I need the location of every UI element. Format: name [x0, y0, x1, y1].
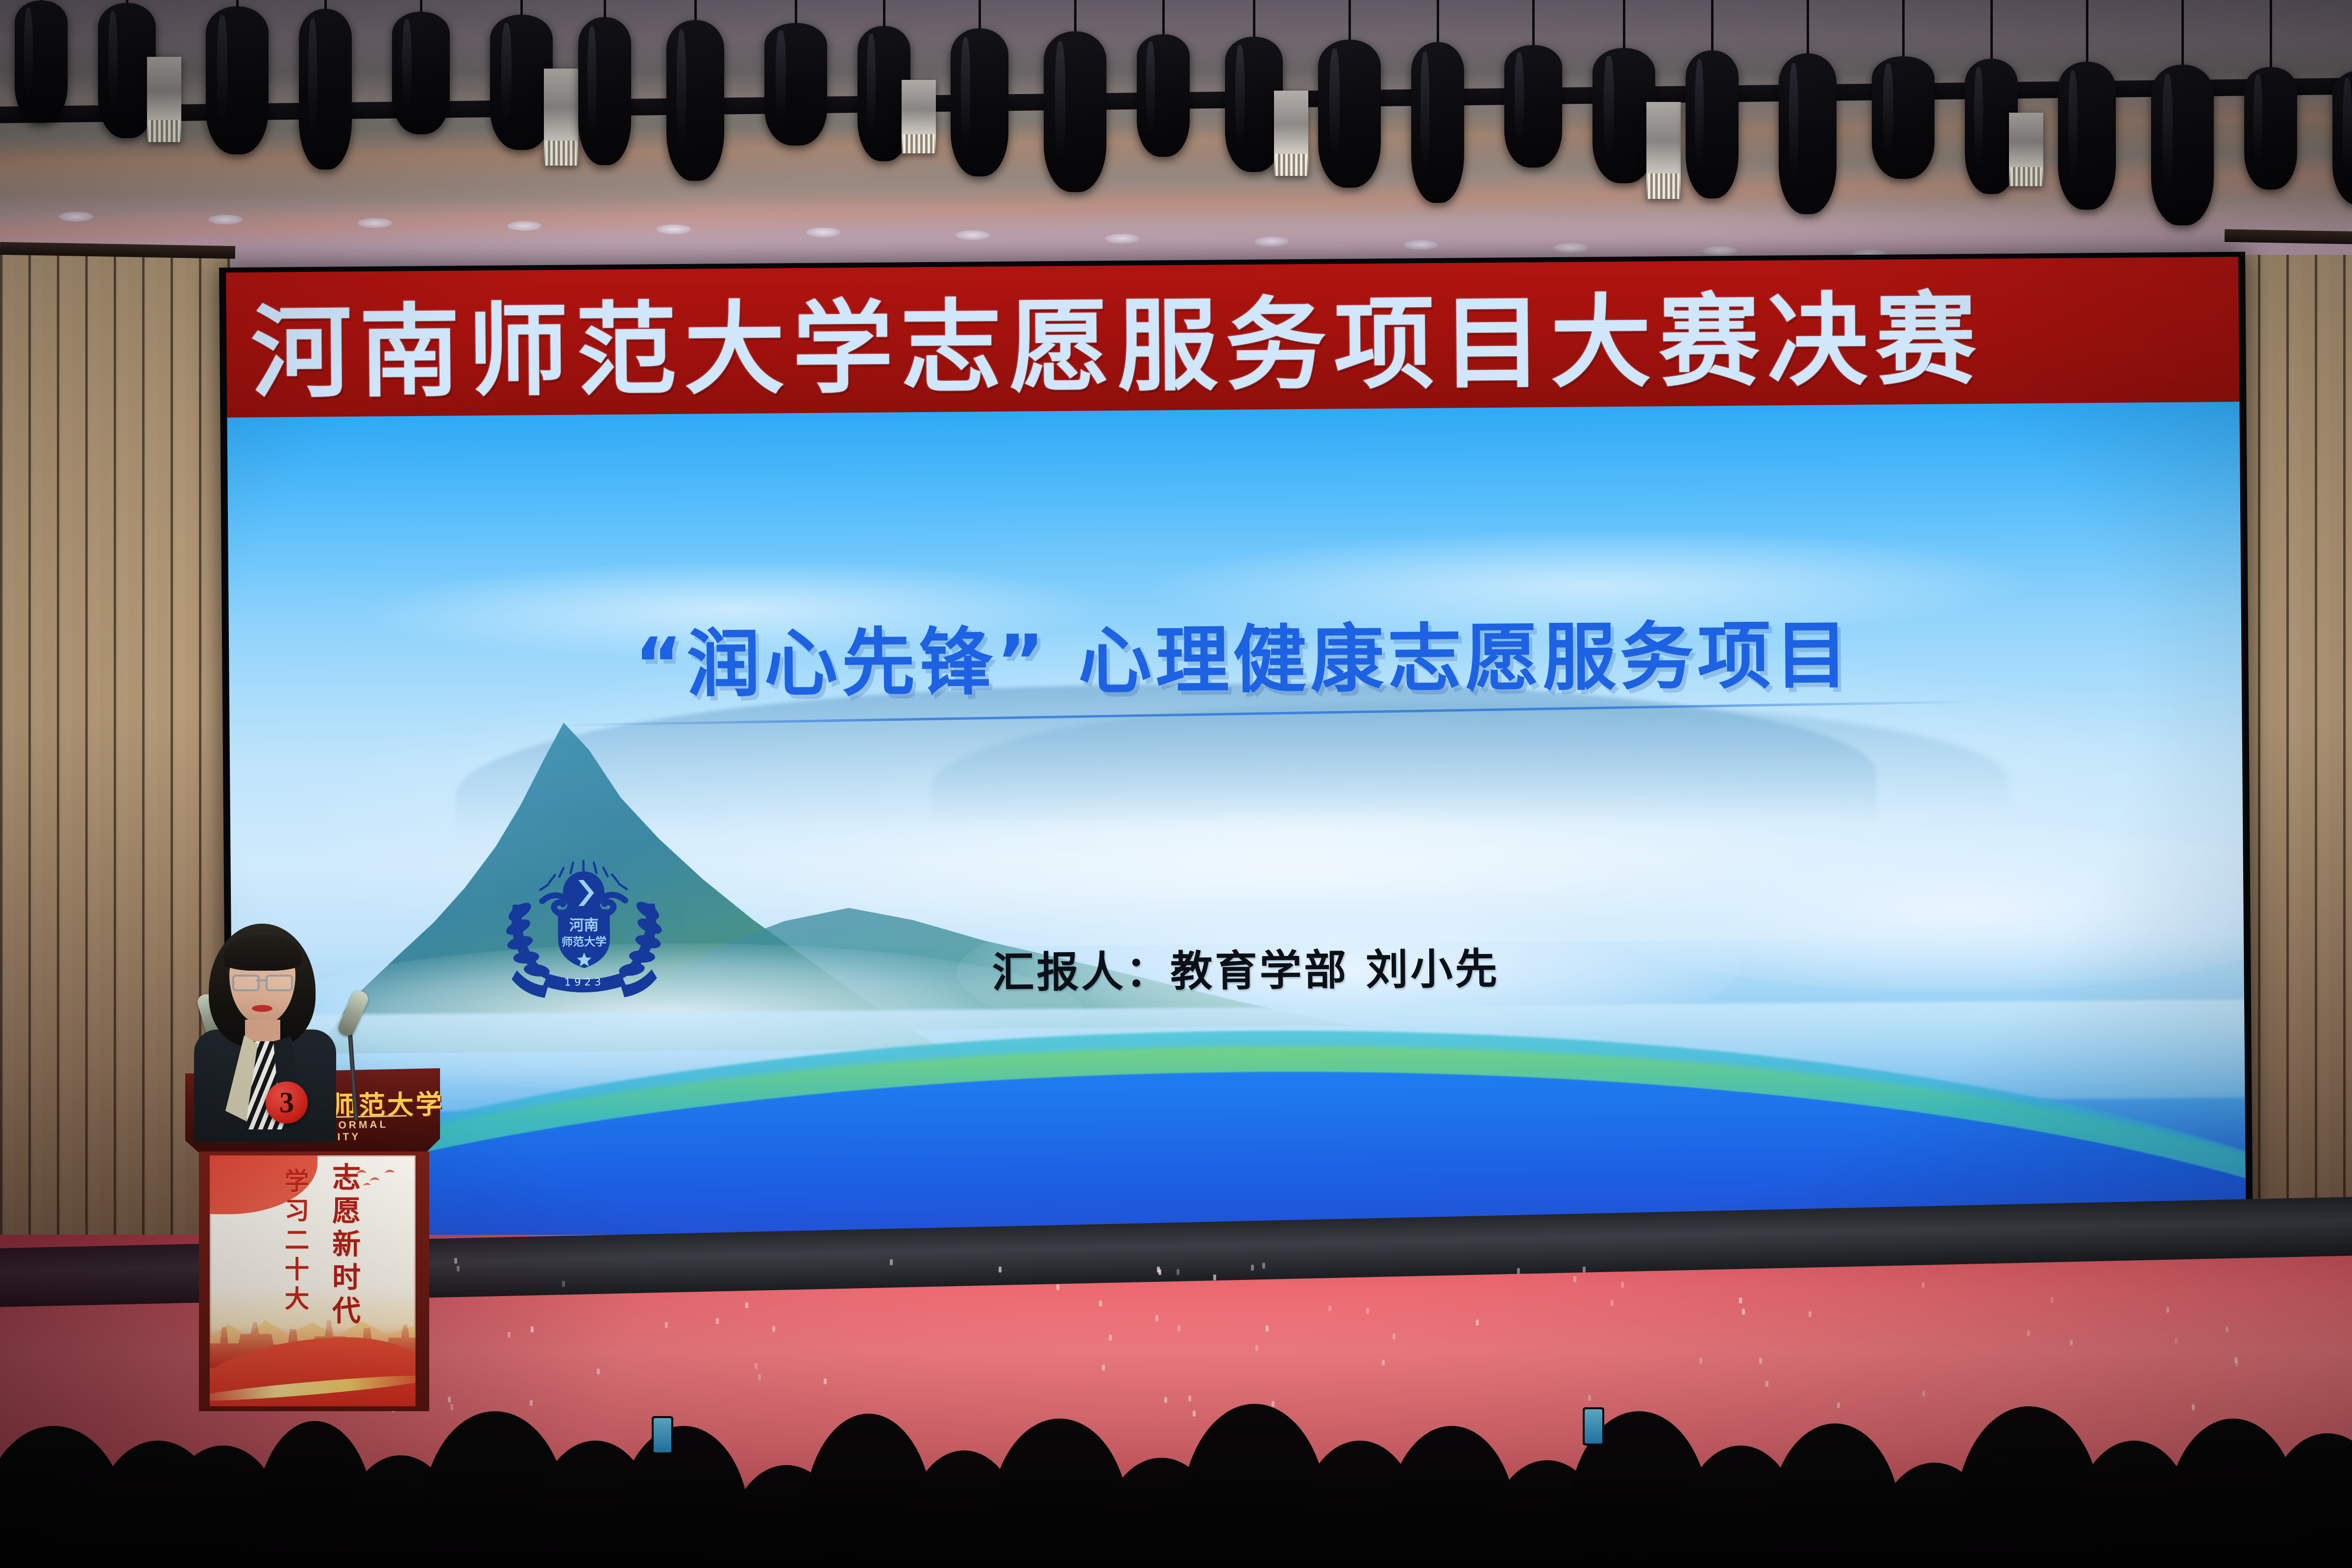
- floor-speck: [562, 1281, 565, 1287]
- poster-slogan-right: 志愿新时代: [323, 1162, 365, 1329]
- recessed-downlight: [59, 212, 93, 221]
- speaker-contestant-number-badge: 3: [266, 1081, 308, 1124]
- speaker-glasses-right-lens: [266, 975, 293, 991]
- floor-speck: [999, 1267, 1002, 1273]
- auditorium-stage-photo: 河南师范大学志愿服务项目大赛决赛: [0, 0, 2352, 1568]
- stage-light-fixture: [1137, 34, 1190, 157]
- floor-speck: [1109, 1335, 1112, 1341]
- floor-speck: [1621, 1282, 1624, 1288]
- right-wall-trim: [2225, 229, 2352, 245]
- crest-name-top: 河南: [569, 917, 599, 934]
- floor-speck: [1328, 1305, 1331, 1311]
- floor-speck: [1366, 1308, 1369, 1314]
- stage-light-fixture: [951, 28, 1008, 176]
- event-banner-title: 河南师范大学志愿服务项目大赛决赛: [226, 258, 1984, 417]
- floor-speck: [716, 1318, 719, 1324]
- recessed-downlight: [1553, 243, 1588, 253]
- stage-light-fixture: [2058, 62, 2116, 210]
- poster-slogan-left: 学习二十大: [277, 1168, 313, 1315]
- stage-light-fixture: [1592, 48, 1655, 183]
- floor-speck: [2175, 1338, 2178, 1344]
- floor-speck: [1155, 1315, 1158, 1321]
- slide-title: “润心先锋” 心理健康志愿服务项目: [226, 592, 2246, 715]
- floor-speck: [1099, 1300, 1102, 1306]
- floor-speck: [2051, 1297, 2054, 1303]
- event-banner: 河南师范大学志愿服务项目大赛决赛: [226, 257, 2246, 419]
- speaker-presenter: 3: [191, 924, 338, 1129]
- floor-speck: [1176, 1269, 1179, 1275]
- stage-light-fixture: [299, 9, 352, 170]
- stage-light-fixture: [1044, 31, 1106, 192]
- floor-speck: [2070, 1340, 2073, 1346]
- stage-led-panel-fixture: [1274, 91, 1308, 176]
- stage-light-fixture: [1504, 45, 1562, 168]
- audience-silhouettes: [0, 1352, 2352, 1568]
- floor-speck: [531, 1326, 534, 1332]
- stage-led-panel-fixture: [147, 57, 181, 142]
- floor-speck: [890, 1259, 893, 1265]
- presentation-slide: 河南 师范大学 1923 “润心先锋” 心理健康志愿服务项目 汇报人：教育学部 …: [226, 401, 2246, 1256]
- stage-light-fixture: [490, 15, 553, 150]
- floor-speck: [1177, 1325, 1180, 1331]
- floor-speck: [1266, 1325, 1269, 1331]
- stage-light-fixture: [1872, 56, 1935, 179]
- stage-led-panel-fixture: [1646, 102, 1681, 199]
- recessed-downlight: [806, 227, 840, 237]
- stage-light-fixture: [2151, 65, 2214, 225]
- floor-speck: [2166, 1307, 2169, 1313]
- floor-speck: [1517, 1268, 1520, 1274]
- floor-speck: [772, 1326, 775, 1332]
- recessed-downlight: [1404, 240, 1438, 250]
- led-screen-surface: 河南师范大学志愿服务项目大赛决赛: [226, 257, 2246, 1256]
- floor-speck: [1742, 1309, 1745, 1315]
- floor-speck: [1251, 1265, 1254, 1271]
- floor-speck: [1157, 1267, 1160, 1273]
- floor-speck: [1213, 1274, 1216, 1280]
- floor-speck: [1262, 1263, 1265, 1269]
- stage-light-fixture: [1318, 40, 1381, 188]
- floor-speck: [1393, 1333, 1396, 1339]
- stage-led-panel-fixture: [544, 69, 578, 166]
- speaker-glasses-left-lens: [232, 975, 260, 991]
- stage-light-fixture: [666, 20, 724, 181]
- audience-phone-screen: [1583, 1407, 1604, 1445]
- stage-light-fixture: [578, 17, 631, 165]
- speaker-glasses-bridge: [256, 980, 266, 981]
- floor-speck: [1809, 1311, 1812, 1317]
- audience-phone-screen: [652, 1416, 673, 1454]
- floor-speck: [1611, 1300, 1614, 1306]
- stage-light-fixture: [1411, 42, 1464, 203]
- stage-led-panel-fixture: [2009, 113, 2043, 186]
- stage-light-fixture: [206, 6, 269, 154]
- floor-speck: [1476, 1320, 1479, 1325]
- stage-light-fixture: [1686, 50, 1739, 198]
- audience-foreground-shadow: [0, 1480, 2352, 1568]
- led-screen-wall: 河南师范大学志愿服务项目大赛决赛: [219, 252, 2253, 1262]
- floor-speck: [1739, 1298, 1742, 1303]
- floor-speck: [1255, 1345, 1258, 1351]
- floor-speck: [1573, 1276, 1576, 1282]
- floor-speck: [665, 1322, 668, 1328]
- floor-speck: [745, 1302, 748, 1308]
- floor-speck: [2027, 1330, 2030, 1336]
- speaker-lips: [252, 1005, 272, 1012]
- floor-speck: [1922, 1282, 1925, 1288]
- floor-speck: [1583, 1267, 1586, 1273]
- stage-light-fixture: [15, 0, 68, 123]
- stage-led-panel-fixture: [902, 80, 936, 153]
- recessed-downlight: [657, 224, 691, 234]
- stage-light-fixture: [392, 12, 450, 134]
- floor-speck: [1056, 1284, 1059, 1290]
- recessed-downlight: [358, 218, 392, 228]
- stage-light-fixture: [1779, 53, 1837, 214]
- stage-light-fixture: [2332, 70, 2352, 205]
- stage-light-fixture: [764, 23, 827, 146]
- stage-light-fixture: [2244, 67, 2297, 190]
- floor-speck: [2226, 1326, 2229, 1332]
- floor-speck: [508, 1332, 511, 1338]
- recessed-downlight: [1105, 234, 1139, 244]
